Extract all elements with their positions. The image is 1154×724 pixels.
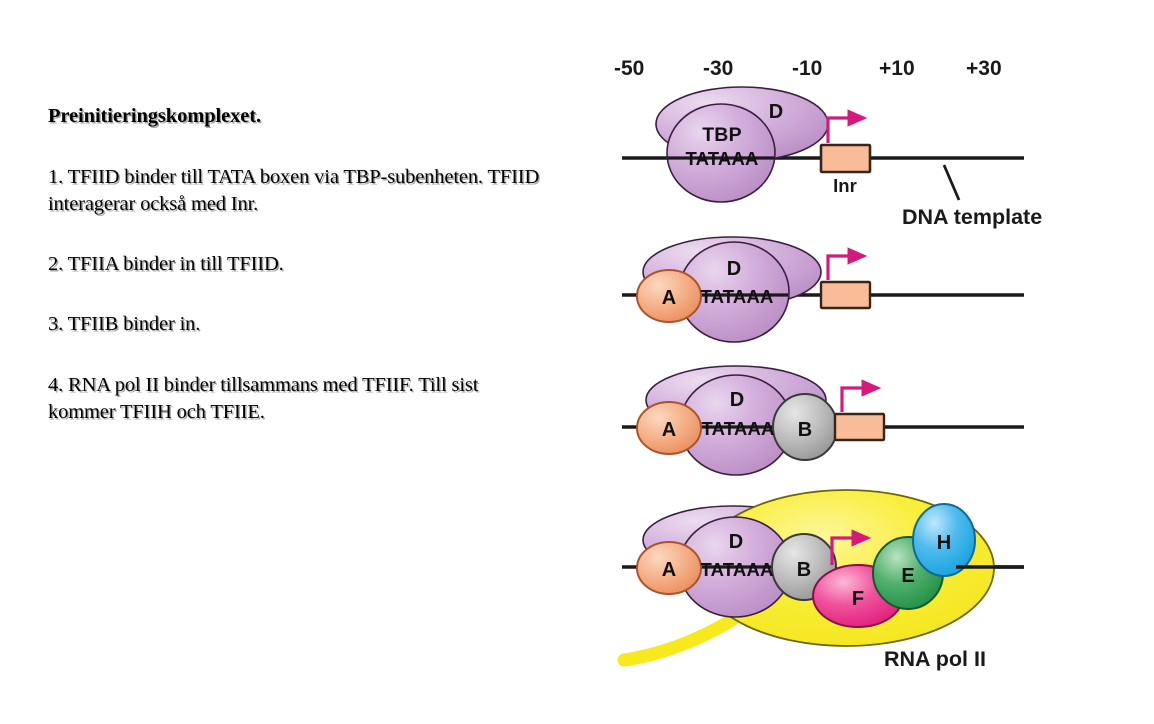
panel-1-tfiid-binding: D TBP TATAAA Inr DNA template: [622, 87, 1042, 229]
transcription-start-arrow: [828, 118, 864, 143]
dna-template-leader-line: [944, 165, 959, 200]
panel-3-tfiib-binding: D TATAAA A B: [622, 366, 1024, 475]
subunit-label-h: H: [937, 532, 951, 554]
inr-box: [821, 282, 870, 308]
slide-text-column: Preinitieringskomplexet. 1. TFIID binder…: [48, 104, 548, 426]
page-title: Preinitieringskomplexet.: [48, 104, 548, 130]
tata-sequence: TATAAA: [700, 559, 773, 580]
rna-pol-ii-label: RNA pol II: [884, 647, 986, 671]
inr-box: [821, 145, 870, 172]
scale-tick-minus30: -30: [703, 57, 733, 80]
transcription-start-arrow: [828, 256, 864, 280]
inr-box: [835, 414, 884, 440]
dna-template-label: DNA template: [902, 205, 1042, 229]
subunit-label-d: D: [730, 389, 744, 411]
list-item-2: 2. TFIIA binder in till TFIID.: [48, 251, 548, 278]
scale-tick-plus30: +30: [966, 57, 1002, 80]
scale-tick-minus50: -50: [614, 57, 644, 80]
subunit-label-d: D: [727, 258, 741, 280]
list-item-4: 4. RNA pol II binder tillsammans med TFI…: [48, 372, 548, 427]
subunit-label-b: B: [798, 419, 812, 441]
tata-sequence: TATAAA: [685, 148, 758, 169]
subunit-label-a: A: [662, 559, 676, 581]
position-scale: -50 -30 -10 +10 +30: [614, 57, 1002, 80]
subunit-label-a: A: [662, 419, 676, 441]
tata-sequence: TATAAA: [701, 418, 774, 439]
transcription-start-arrow: [842, 388, 878, 412]
subunit-label-b: B: [797, 559, 811, 581]
subunit-label-d: D: [729, 531, 743, 553]
subunit-label-e: E: [901, 565, 914, 587]
subunit-label-f: F: [852, 588, 864, 610]
panel-4-full-preinitiation-complex: D TATAAA A B F E H RNA pol II: [622, 490, 1024, 671]
preinitiation-complex-diagram: -50 -30 -10 +10 +30 D TBP TATAAA Inr DNA…: [596, 40, 1148, 688]
scale-tick-plus10: +10: [879, 57, 915, 80]
panel-2-tfiia-binding: D TATAAA A: [622, 237, 1024, 342]
list-item-1: 1. TFIID binder till TATA boxen via TBP-…: [48, 164, 548, 219]
tbp-label: TBP: [702, 124, 742, 146]
scale-tick-minus10: -10: [792, 57, 822, 80]
subunit-label-a: A: [662, 287, 676, 309]
list-item-3: 3. TFIIB binder in.: [48, 311, 548, 338]
subunit-label-d: D: [769, 101, 783, 123]
tata-sequence: TATAAA: [700, 286, 773, 307]
inr-label: Inr: [833, 175, 857, 196]
